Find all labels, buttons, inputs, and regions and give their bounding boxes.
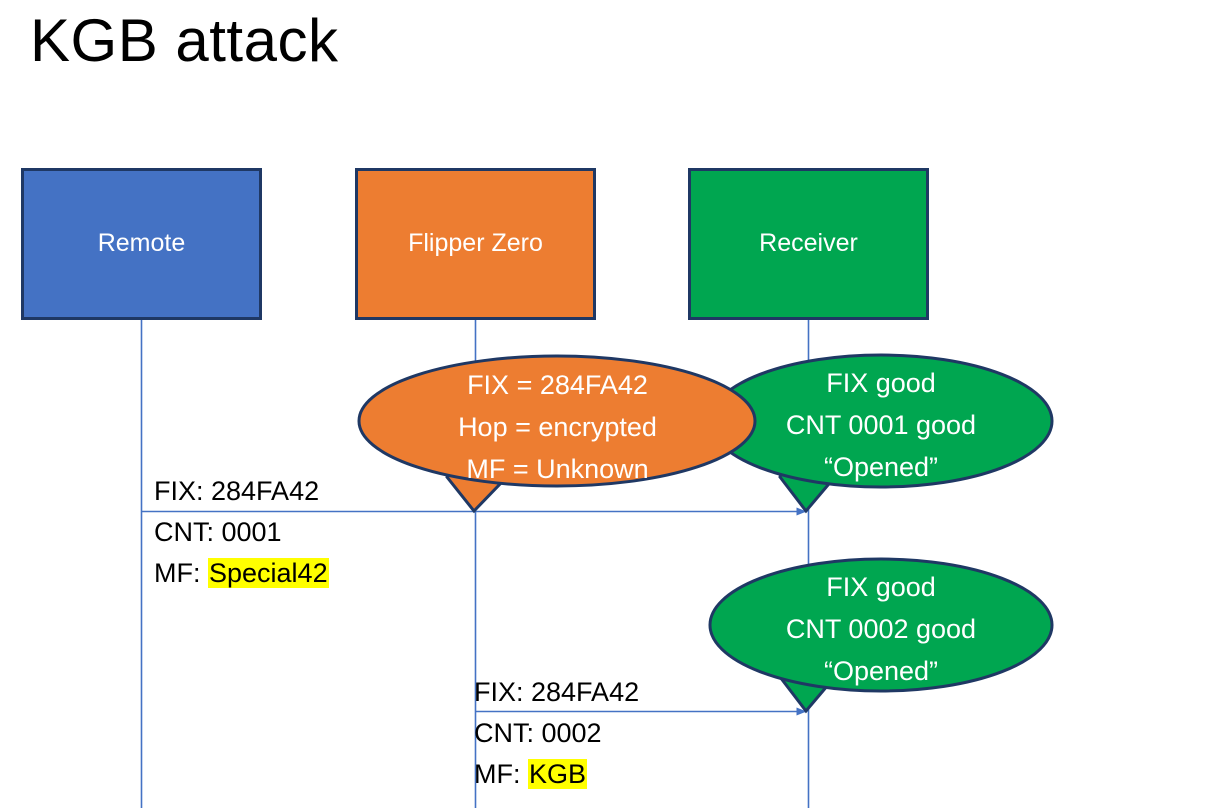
callout-receiver-2 <box>710 559 1052 711</box>
message-2-mf-line: MF: KGB <box>474 754 639 795</box>
callout-flipper-zero <box>359 356 755 511</box>
callout-receiver-1 <box>710 355 1052 511</box>
message-2-cnt-line: CNT: 0002 <box>474 713 639 754</box>
actor-label-remote: Remote <box>98 230 186 258</box>
message-2-mf-prefix: MF: <box>474 759 528 789</box>
actor-box-flipper-zero[interactable]: Flipper Zero <box>355 168 596 320</box>
message-1-cnt-line: CNT: 0001 <box>154 512 329 553</box>
message-2-fix-line: FIX: 284FA42 <box>474 672 639 713</box>
message-1-mf-line: MF: Special42 <box>154 553 329 594</box>
message-label-block-1: FIX: 284FA42 CNT: 0001 MF: Special42 <box>154 471 329 594</box>
message-1-fix-line: FIX: 284FA42 <box>154 471 329 512</box>
message-1-mf-prefix: MF: <box>154 558 208 588</box>
actor-box-receiver[interactable]: Receiver <box>688 168 929 320</box>
message-1-mf-value-highlight: Special42 <box>208 558 329 588</box>
actor-label-flipper-zero: Flipper Zero <box>408 230 543 258</box>
message-label-block-2: FIX: 284FA42 CNT: 0002 MF: KGB <box>474 672 639 795</box>
actor-label-receiver: Receiver <box>759 230 858 258</box>
actor-box-remote[interactable]: Remote <box>21 168 262 320</box>
message-2-mf-value-highlight: KGB <box>528 759 587 789</box>
